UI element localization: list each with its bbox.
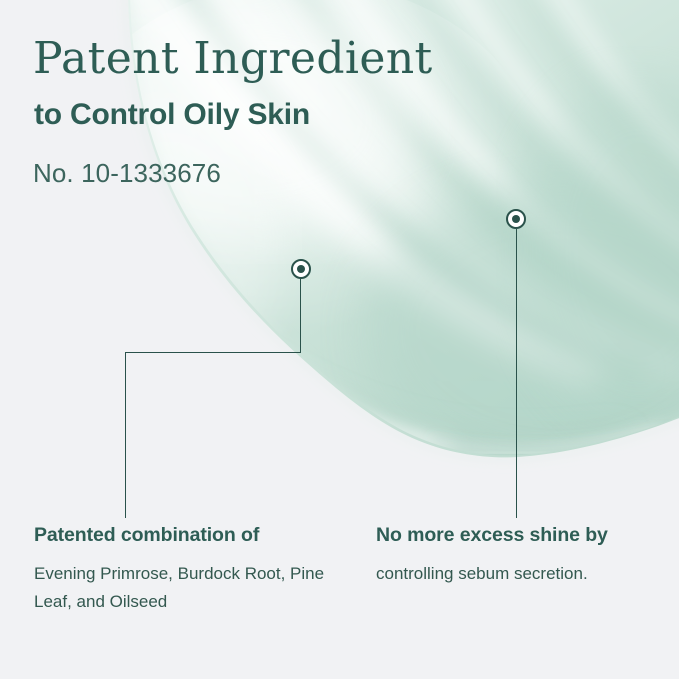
- callout-right-title: No more excess shine by: [376, 523, 666, 547]
- callout-right-body: controlling sebum secretion.: [376, 560, 666, 588]
- leader-line-right-vertical: [516, 229, 517, 518]
- callout-marker-right-center-dot: [512, 215, 520, 223]
- product-infographic: Patent Ingredient to Control Oily Skin N…: [0, 0, 679, 679]
- page-title: Patent Ingredient: [33, 36, 433, 82]
- callout-marker-right-icon: [506, 209, 526, 229]
- patent-number: No. 10-1333676: [33, 158, 221, 189]
- callout-marker-left-icon: [291, 259, 311, 279]
- leader-line-left-horizontal: [125, 352, 301, 353]
- callout-text-right: No more excess shine by controlling sebu…: [376, 523, 666, 588]
- callout-text-left: Patented combination of Evening Primrose…: [34, 523, 354, 615]
- callout-marker-left-center-dot: [297, 265, 305, 273]
- callout-left-title: Patented combination of: [34, 523, 354, 547]
- page-subtitle: to Control Oily Skin: [34, 98, 310, 133]
- callout-left-body: Evening Primrose, Burdock Root, Pine Lea…: [34, 560, 354, 615]
- leader-line-left-vertical-bottom: [125, 352, 126, 518]
- leader-line-left-vertical-top: [300, 279, 301, 353]
